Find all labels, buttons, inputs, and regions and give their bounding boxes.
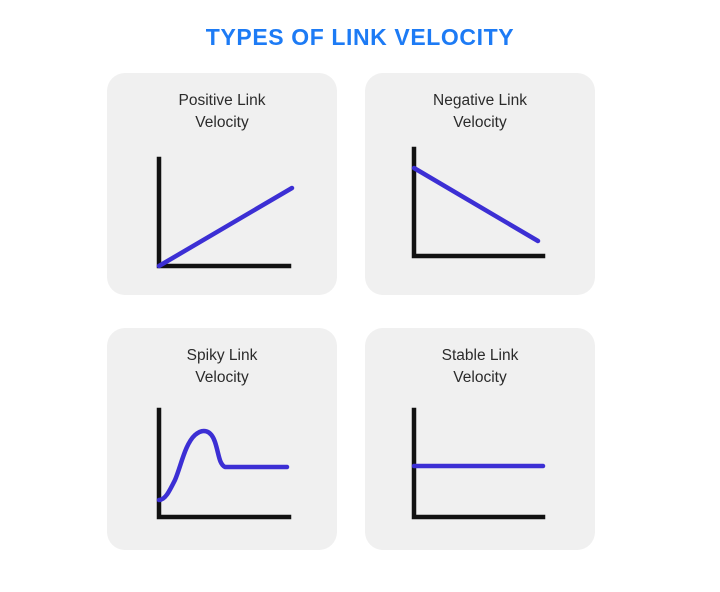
card-title-line-1: Stable Link — [442, 347, 519, 364]
card-title-line-2: Velocity — [453, 369, 506, 386]
chart-series-line-positive — [159, 188, 292, 266]
chart-series-line-negative — [414, 168, 538, 241]
card-title-line-2: Velocity — [195, 114, 248, 131]
card-title-line-2: Velocity — [195, 369, 248, 386]
card-title-line-1: Spiky Link — [187, 347, 258, 364]
velocity-cards-grid: Positive Link Velocity Negative Link Vel… — [107, 73, 595, 550]
card-stable-link-velocity[interactable]: Stable Link Velocity — [365, 328, 595, 550]
chart-axis-lines — [414, 410, 543, 517]
chart-spiky-link-velocity — [107, 388, 337, 550]
chart-svg-spiky — [107, 388, 337, 550]
card-negative-link-velocity[interactable]: Negative Link Velocity — [365, 73, 595, 295]
chart-stable-link-velocity — [365, 388, 595, 550]
card-title-line-2: Velocity — [453, 114, 506, 131]
card-title-spiky: Spiky Link Velocity — [117, 345, 327, 389]
chart-svg-positive — [107, 133, 337, 295]
card-title-line-1: Negative Link — [433, 92, 527, 109]
card-title-stable: Stable Link Velocity — [375, 345, 585, 389]
chart-svg-negative — [365, 133, 595, 295]
card-title-line-1: Positive Link — [178, 92, 265, 109]
card-positive-link-velocity[interactable]: Positive Link Velocity — [107, 73, 337, 295]
chart-axis-lines — [159, 159, 289, 266]
chart-svg-stable — [365, 388, 595, 550]
card-spiky-link-velocity[interactable]: Spiky Link Velocity — [107, 328, 337, 550]
page-title: TYPES OF LINK VELOCITY — [0, 24, 720, 51]
chart-negative-link-velocity — [365, 133, 595, 295]
page-root: TYPES OF LINK VELOCITY Positive Link Vel… — [0, 0, 720, 592]
card-title-negative: Negative Link Velocity — [375, 90, 585, 134]
chart-positive-link-velocity — [107, 133, 337, 295]
card-title-positive: Positive Link Velocity — [117, 90, 327, 134]
chart-axis-lines — [414, 149, 543, 256]
chart-series-line-spiky — [159, 431, 287, 500]
